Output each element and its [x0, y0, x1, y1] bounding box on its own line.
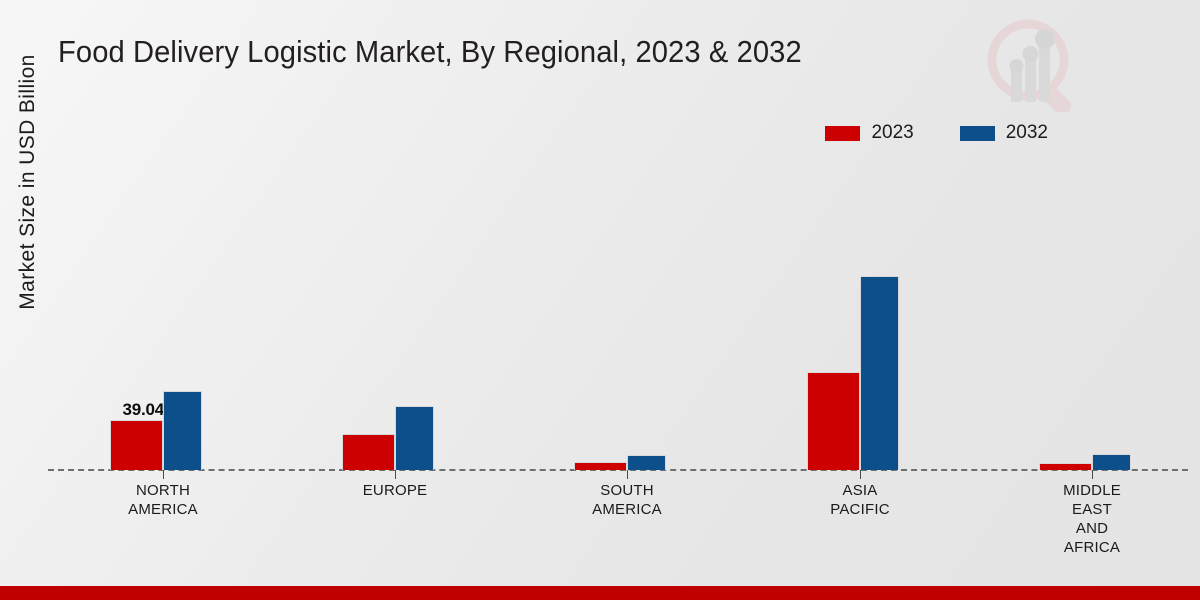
category-label-line: EAST: [997, 500, 1187, 519]
footer-stripe: [0, 586, 1200, 600]
category-label-line: AMERICA: [532, 500, 722, 519]
chart-title: Food Delivery Logistic Market, By Region…: [58, 34, 802, 70]
plot-area: [48, 160, 1188, 470]
legend-swatch-2023: [825, 126, 860, 141]
bar-2023-asia-pacific[interactable]: [807, 372, 860, 470]
category-label: NORTHAMERICA: [68, 481, 258, 519]
legend-item-2032[interactable]: 2032: [960, 122, 1048, 144]
bar-value-label: 39.04: [122, 400, 164, 420]
chart-legend: 2023 2032: [825, 122, 1048, 144]
bar-2032-europe[interactable]: [395, 406, 434, 470]
category-label-line: PACIFIC: [765, 500, 955, 519]
bar-2023-middle-east-and-africa[interactable]: [1039, 463, 1092, 470]
y-axis-label: Market Size in USD Billion: [16, 2, 40, 362]
category-label: ASIAPACIFIC: [765, 481, 955, 519]
category-label-line: ASIA: [765, 481, 955, 500]
category-label-line: NORTH: [68, 481, 258, 500]
bar-2023-europe[interactable]: [342, 434, 395, 470]
axis-tick: [163, 470, 164, 479]
category-label-line: AFRICA: [997, 538, 1187, 557]
category-label: MIDDLEEASTANDAFRICA: [997, 481, 1187, 557]
axis-tick: [395, 470, 396, 479]
axis-tick: [860, 470, 861, 479]
legend-swatch-2032: [960, 126, 995, 141]
legend-label-2023: 2023: [871, 122, 913, 144]
watermark-logo: [978, 12, 1082, 112]
legend-item-2023[interactable]: 2023: [825, 122, 913, 144]
axis-tick: [1092, 470, 1093, 479]
bar-group: [574, 455, 666, 470]
category-label: SOUTHAMERICA: [532, 481, 722, 519]
legend-label-2032: 2032: [1006, 122, 1048, 144]
axis-tick: [627, 470, 628, 479]
category-label-line: MIDDLE: [997, 481, 1187, 500]
category-label-line: AMERICA: [68, 500, 258, 519]
bar-2023-south-america[interactable]: [574, 462, 627, 470]
bar-group: [1039, 454, 1131, 470]
bar-group: [807, 276, 899, 470]
bar-2032-south-america[interactable]: [627, 455, 666, 470]
bar-group: [342, 406, 434, 470]
bar-group: 39.04: [110, 391, 202, 470]
category-label: EUROPE: [300, 481, 490, 500]
category-label-line: EUROPE: [300, 481, 490, 500]
bar-2032-north-america[interactable]: [163, 391, 202, 470]
bar-2032-asia-pacific[interactable]: [860, 276, 899, 470]
bar-2023-north-america[interactable]: 39.04: [110, 420, 163, 470]
bar-2032-middle-east-and-africa[interactable]: [1092, 454, 1131, 470]
category-label-line: SOUTH: [532, 481, 722, 500]
category-label-line: AND: [997, 519, 1187, 538]
